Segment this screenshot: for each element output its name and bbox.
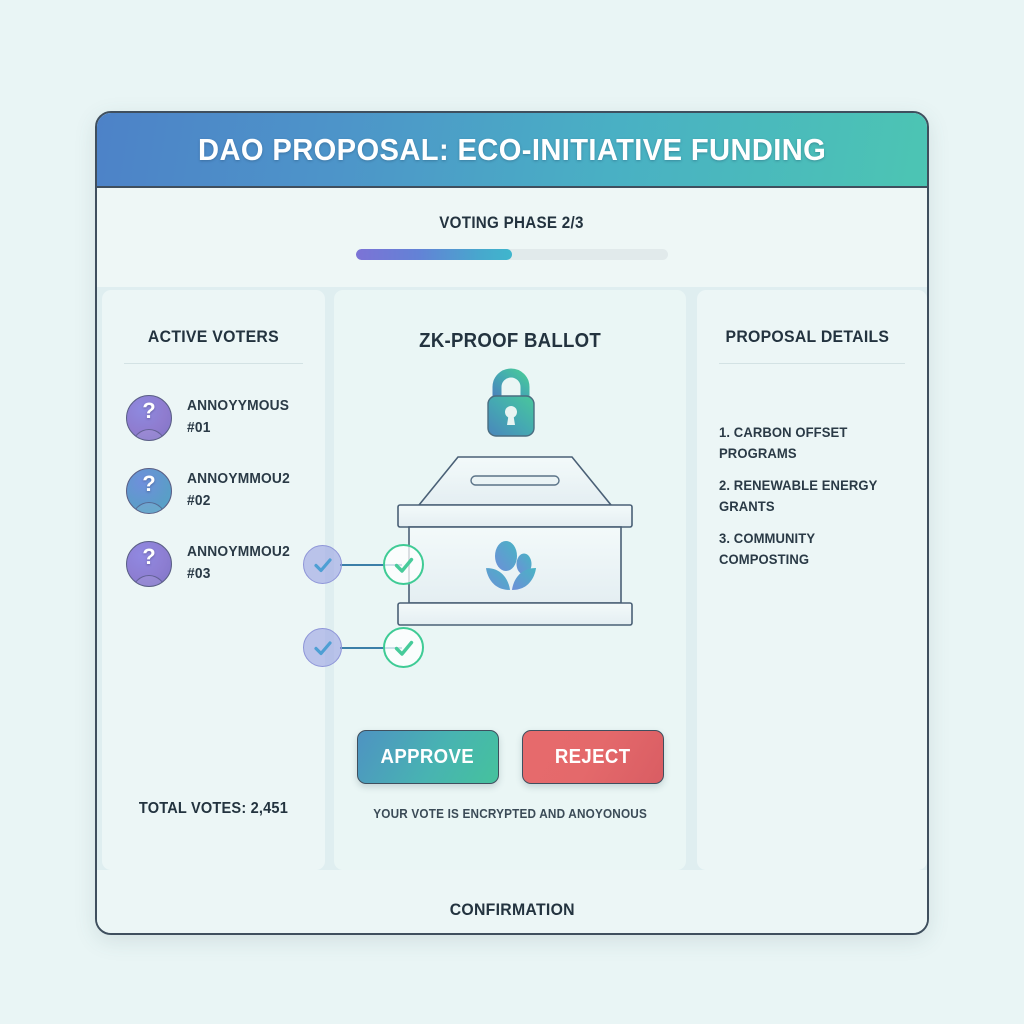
list-item[interactable]: ? ANNOYMMOU2 #02: [126, 467, 325, 514]
question-avatar-icon: ?: [126, 395, 172, 441]
voter-name: ANNOYYMOUS #01: [187, 396, 289, 438]
question-mark-glyph: ?: [127, 471, 171, 497]
lock-icon: [475, 363, 547, 447]
proposal-details-list: 1. CARBON OFFSET PROGRAMS 2. RENEWABLE E…: [697, 422, 927, 570]
active-voters-panel: ACTIVE VOTERS ? ANNOYYMOUS #01 ?: [102, 290, 325, 870]
voter-name-text: ANNOYYMOUS: [187, 398, 289, 414]
voter-id-text: #03: [187, 566, 211, 582]
list-item: 1. CARBON OFFSET PROGRAMS: [719, 422, 901, 464]
question-avatar-icon: ?: [126, 468, 172, 514]
reject-button[interactable]: REJECT: [522, 730, 664, 784]
question-avatar-icon: ?: [126, 541, 172, 587]
voter-name-text: ANNOYMMOU2: [187, 544, 290, 560]
voting-progress-fill: [356, 249, 512, 260]
dao-proposal-card: DAO PROPOSAL: ECO-INITIATIVE FUNDING VOT…: [95, 111, 929, 935]
voter-list: ? ANNOYYMOUS #01 ? ANNOYMMOU2: [102, 394, 325, 587]
check-glyph: [392, 636, 416, 660]
check-circle-green-icon[interactable]: [383, 627, 424, 668]
active-voters-title: ACTIVE VOTERS: [110, 327, 317, 347]
zk-proof-ballot-title: ZK-PROOF BALLOT: [346, 330, 674, 353]
voter-name: ANNOYMMOU2 #03: [187, 542, 290, 584]
list-item: 3. COMMUNITY COMPOSTING: [719, 528, 901, 570]
reject-button-label: REJECT: [555, 746, 631, 769]
check-glyph: [312, 637, 334, 659]
list-item[interactable]: ? ANNOYYMOUS #01: [126, 394, 325, 441]
list-item: 2. RENEWABLE ENERGY GRANTS: [719, 475, 901, 517]
question-mark-glyph: ?: [127, 544, 171, 570]
vote-actions: APPROVE REJECT: [334, 730, 686, 784]
total-votes-label: TOTAL VOTES: 2,451: [109, 800, 319, 818]
proposal-details-title: PROPOSAL DETAILS: [705, 327, 919, 347]
divider: [719, 363, 905, 364]
check-glyph: [312, 554, 334, 576]
question-mark-glyph: ?: [127, 398, 171, 424]
voter-id-text: #02: [187, 493, 211, 509]
check-glyph: [392, 553, 416, 577]
panels-row: ACTIVE VOTERS ? ANNOYYMOUS #01 ?: [97, 287, 927, 870]
divider: [124, 363, 303, 364]
card-header: DAO PROPOSAL: ECO-INITIATIVE FUNDING: [97, 113, 927, 188]
voting-phase-section: VOTING PHASE 2/3: [97, 188, 927, 287]
voter-name: ANNOYMMOU2 #02: [187, 469, 290, 511]
check-badge-blue-icon[interactable]: [303, 628, 342, 667]
proposal-details-panel: PROPOSAL DETAILS 1. CARBON OFFSET PROGRA…: [697, 290, 927, 870]
avatar-body-shape: [132, 429, 166, 441]
voting-phase-label: VOTING PHASE 2/3: [440, 214, 584, 233]
approve-button[interactable]: APPROVE: [357, 730, 499, 784]
avatar-body-shape: [132, 575, 166, 587]
approve-button-label: APPROVE: [381, 746, 475, 769]
encryption-note: YOUR VOTE IS ENCRYPTED AND ANOYONOUS: [344, 807, 675, 821]
confirmation-title: CONFIRMATION: [449, 900, 574, 920]
list-item[interactable]: ? ANNOYMMOU2 #03: [126, 540, 325, 587]
voter-name-text: ANNOYMMOU2: [187, 471, 290, 487]
zk-proof-ballot-panel: ZK-PROOF BALLOT: [334, 290, 686, 870]
avatar-body-shape: [132, 502, 166, 514]
check-circle-green-icon[interactable]: [383, 544, 424, 585]
check-badge-blue-icon[interactable]: [303, 545, 342, 584]
ballot-box-icon: [386, 447, 636, 637]
ballot-illustration: [334, 359, 686, 659]
voter-id-text: #01: [187, 420, 211, 436]
confirmation-section: CONFIRMATION CAST ZK-VOTE: [97, 870, 927, 933]
voting-progress-bar: [356, 249, 668, 260]
page-title: DAO PROPOSAL: ECO-INITIATIVE FUNDING: [198, 132, 826, 168]
